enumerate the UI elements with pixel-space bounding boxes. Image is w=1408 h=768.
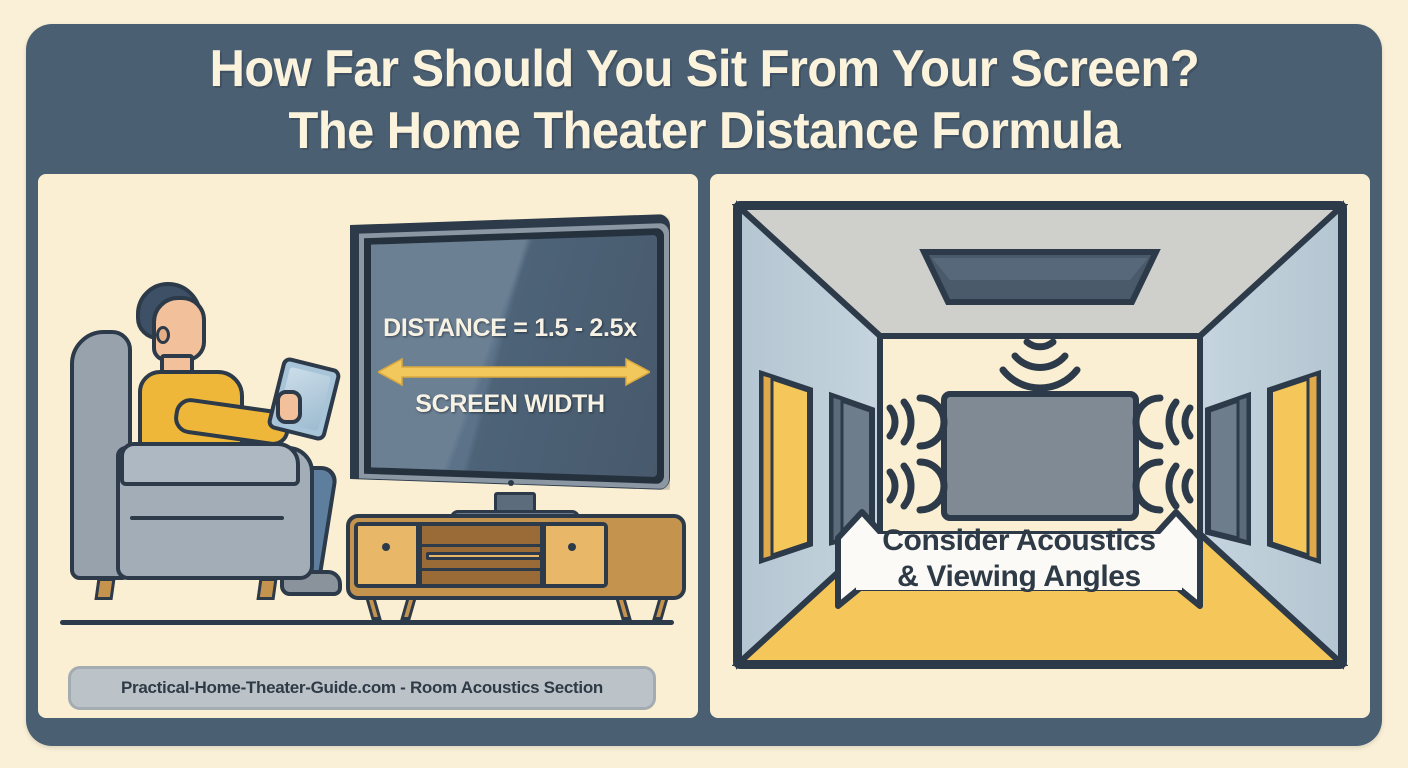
source-caption-chip: Practical-Home-Theater-Guide.com - Room … [68,666,656,710]
console-door-left [358,526,419,584]
source-caption-text: Practical-Home-Theater-Guide.com - Room … [121,678,603,698]
chair-armrest [120,442,300,486]
shelf-divider [420,568,542,571]
double-arrow-icon [378,357,650,387]
callout-text: Consider Acoustics & Viewing Angles [834,504,1204,614]
chair-seam [130,516,284,520]
chair-foot [94,578,115,600]
person-hand [276,390,302,424]
console-knob-icon [382,543,390,551]
wall-acoustic-panel-icon [1208,396,1248,542]
tv-screen [371,235,657,477]
infographic-root: How Far Should You Sit From Your Screen?… [0,0,1408,768]
distance-formula-label: DISTANCE = 1.5 - 2.5x [350,314,670,343]
tv-power-led-icon [508,480,514,486]
console-front [354,522,608,588]
wall-acoustic-panel-icon [762,374,810,560]
shelf-component [426,552,542,560]
chair-foot [256,578,277,600]
console-door-right [543,526,604,584]
console-shelves [419,526,543,584]
media-console [346,514,686,614]
console-knob-icon [568,543,576,551]
callout-banner: Consider Acoustics & Viewing Angles [834,504,1204,614]
tv-screen-glare [371,235,657,477]
seated-viewer [64,270,344,626]
callout-line-2: & Viewing Angles [897,560,1141,594]
right-panel: Consider Acoustics & Viewing Angles [710,174,1370,718]
tv-bezel: DISTANCE = 1.5 - 2.5x SCREEN WIDTH [350,214,670,490]
screen-width-label: SCREEN WIDTH [350,390,670,419]
shelf-divider [420,544,542,547]
left-panel: DISTANCE = 1.5 - 2.5x SCREEN WIDTH [38,174,698,718]
floor-line [60,620,674,625]
projection-screen-icon [944,394,1136,518]
callout-line-1: Consider Acoustics [882,524,1155,558]
television: DISTANCE = 1.5 - 2.5x SCREEN WIDTH [346,210,676,510]
ceiling-acoustic-panel-icon [924,252,1156,302]
person-ear [156,326,170,344]
wall-acoustic-panel-icon [1270,374,1318,560]
